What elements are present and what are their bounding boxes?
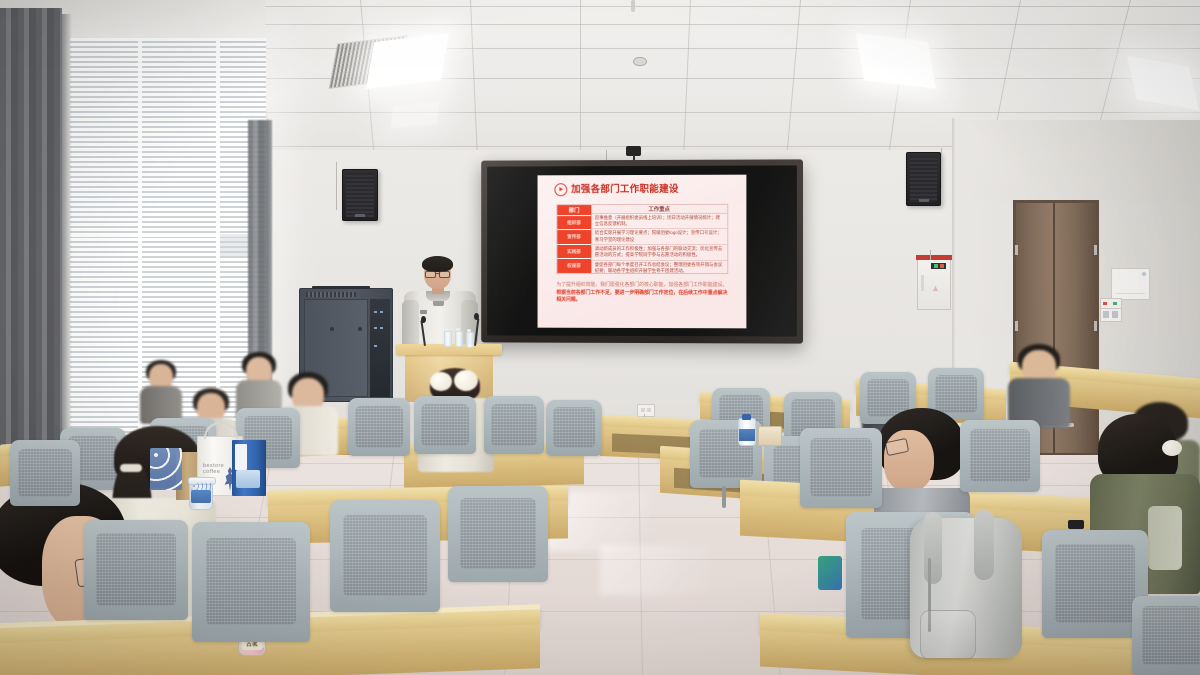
presenter-badge — [420, 310, 427, 314]
table-row: 实践部 — [557, 245, 590, 260]
chair[interactable] — [546, 400, 602, 456]
presenter-arm — [402, 300, 419, 348]
water-bottle — [455, 331, 463, 347]
slide: 加强各部门工作职能建设 部门 组织部 宣传部 实践部 权益部 工作重点 因事维意… — [538, 174, 747, 328]
gray-backpack — [910, 518, 1022, 658]
wall-info-panel — [1111, 268, 1150, 300]
audience-member-right — [874, 408, 970, 528]
fire-alarm-cabinet[interactable]: ▲ — [917, 258, 951, 310]
wall-outlet[interactable] — [637, 404, 655, 417]
chair[interactable] — [414, 396, 476, 454]
chair[interactable] — [1132, 596, 1200, 675]
table-row: 权益部 — [557, 259, 590, 273]
bubble-tea-brand: 古茗 — [242, 641, 262, 650]
table-row: 宣传部 — [557, 230, 590, 245]
cable — [336, 162, 337, 210]
sprinkler-head-icon — [631, 0, 635, 12]
table-row: 组织部 — [557, 216, 590, 231]
audience-member — [140, 360, 182, 424]
microphone-head — [421, 316, 426, 323]
table-header-focus: 工作重点 — [592, 204, 727, 213]
table-row: 督促各部门每个季度召开工作总结会议；整理团委各项开销与会议纪要；联动各学生组织开… — [592, 261, 727, 276]
led-panel-light — [390, 101, 439, 128]
hair-bow — [430, 372, 452, 391]
classroom-photo: ▲ 加强各部门工作 — [0, 0, 1200, 675]
chair[interactable] — [10, 440, 80, 506]
presentation-display[interactable]: 加强各部门工作职能建设 部门 组织部 宣传部 实践部 权益部 工作重点 因事维意… — [481, 159, 803, 343]
chair[interactable] — [192, 522, 310, 642]
cable — [941, 148, 942, 188]
smoke-detector-icon — [633, 57, 647, 66]
chair[interactable] — [960, 420, 1040, 492]
audience-member — [1008, 344, 1070, 428]
phone — [1068, 520, 1084, 529]
hair-bow — [454, 370, 478, 391]
curtain-left[interactable] — [0, 8, 62, 468]
presenter-hair — [422, 256, 453, 272]
chair[interactable] — [800, 428, 882, 508]
polka-dot-bag — [150, 448, 182, 490]
glasses-icon — [425, 271, 450, 277]
play-circle-icon — [554, 183, 567, 196]
chair[interactable] — [448, 486, 548, 582]
table-header-dept: 部门 — [557, 205, 590, 216]
microphone-head — [474, 313, 479, 320]
display-screen: 加强各部门工作职能建设 部门 组织部 宣传部 实践部 权益部 工作重点 因事维意… — [487, 165, 797, 336]
chair[interactable] — [84, 520, 188, 620]
slide-table: 部门 组织部 宣传部 实践部 权益部 工作重点 因事维意（开展组织委员线上培训）… — [556, 203, 727, 274]
slide-title: 加强各部门工作职能建设 — [571, 185, 679, 195]
slide-paragraph-highlight: 根据当前各部门工作不足，要进一步明确部门工作定位，在后续工作中重点解决相关问题。 — [556, 290, 727, 303]
table-row: 因事维意（开展组织委员线上培训）；团日活动开展情况统计；建立信息反馈机制。 — [592, 213, 727, 229]
green-bag — [818, 556, 842, 590]
slide-title-row: 加强各部门工作职能建设 — [554, 183, 678, 196]
led-panel-light — [856, 33, 936, 89]
hair-clip — [1162, 440, 1182, 456]
chair[interactable] — [348, 398, 410, 456]
cable — [930, 250, 931, 260]
chair[interactable] — [484, 396, 544, 454]
slide-table-dept-column: 部门 组织部 宣传部 实践部 权益部 — [557, 205, 590, 273]
water-bottle — [738, 418, 756, 446]
led-panel-light — [366, 33, 449, 89]
slide-table-focus-column: 工作重点 因事维意（开展组织委员线上培训）；团日活动开展情况统计；建立信息反馈机… — [591, 204, 727, 273]
led-panel-light — [1127, 56, 1199, 111]
blue-drink-cup — [189, 480, 213, 510]
table-row: 结合实际开展学习理论要点；院级团委logo设计；宣传口号设计；青马学堂的理论建设 — [592, 229, 727, 245]
wall-speaker-right — [906, 152, 941, 206]
water-bottle — [444, 331, 452, 347]
tissue-pack — [758, 426, 782, 446]
water-bottle — [466, 332, 474, 348]
slide-paragraph-plain: 为了提升组织效能，我们需强化各部门的核心职能，加强各部门工作职能建设。 — [556, 282, 727, 287]
slide-paragraph: 为了提升组织效能，我们需强化各部门的核心职能，加强各部门工作职能建设。根据当前各… — [556, 281, 727, 305]
table-row: 调动新成员的工作积极性；加强与各部门的联动交流；优化宣传志愿活动的方式；提高学院… — [592, 245, 727, 261]
light-switch-plate[interactable] — [1100, 308, 1122, 322]
blue-gift-bag — [232, 440, 266, 496]
wall-speaker-left — [342, 169, 378, 221]
chair[interactable] — [330, 500, 440, 612]
